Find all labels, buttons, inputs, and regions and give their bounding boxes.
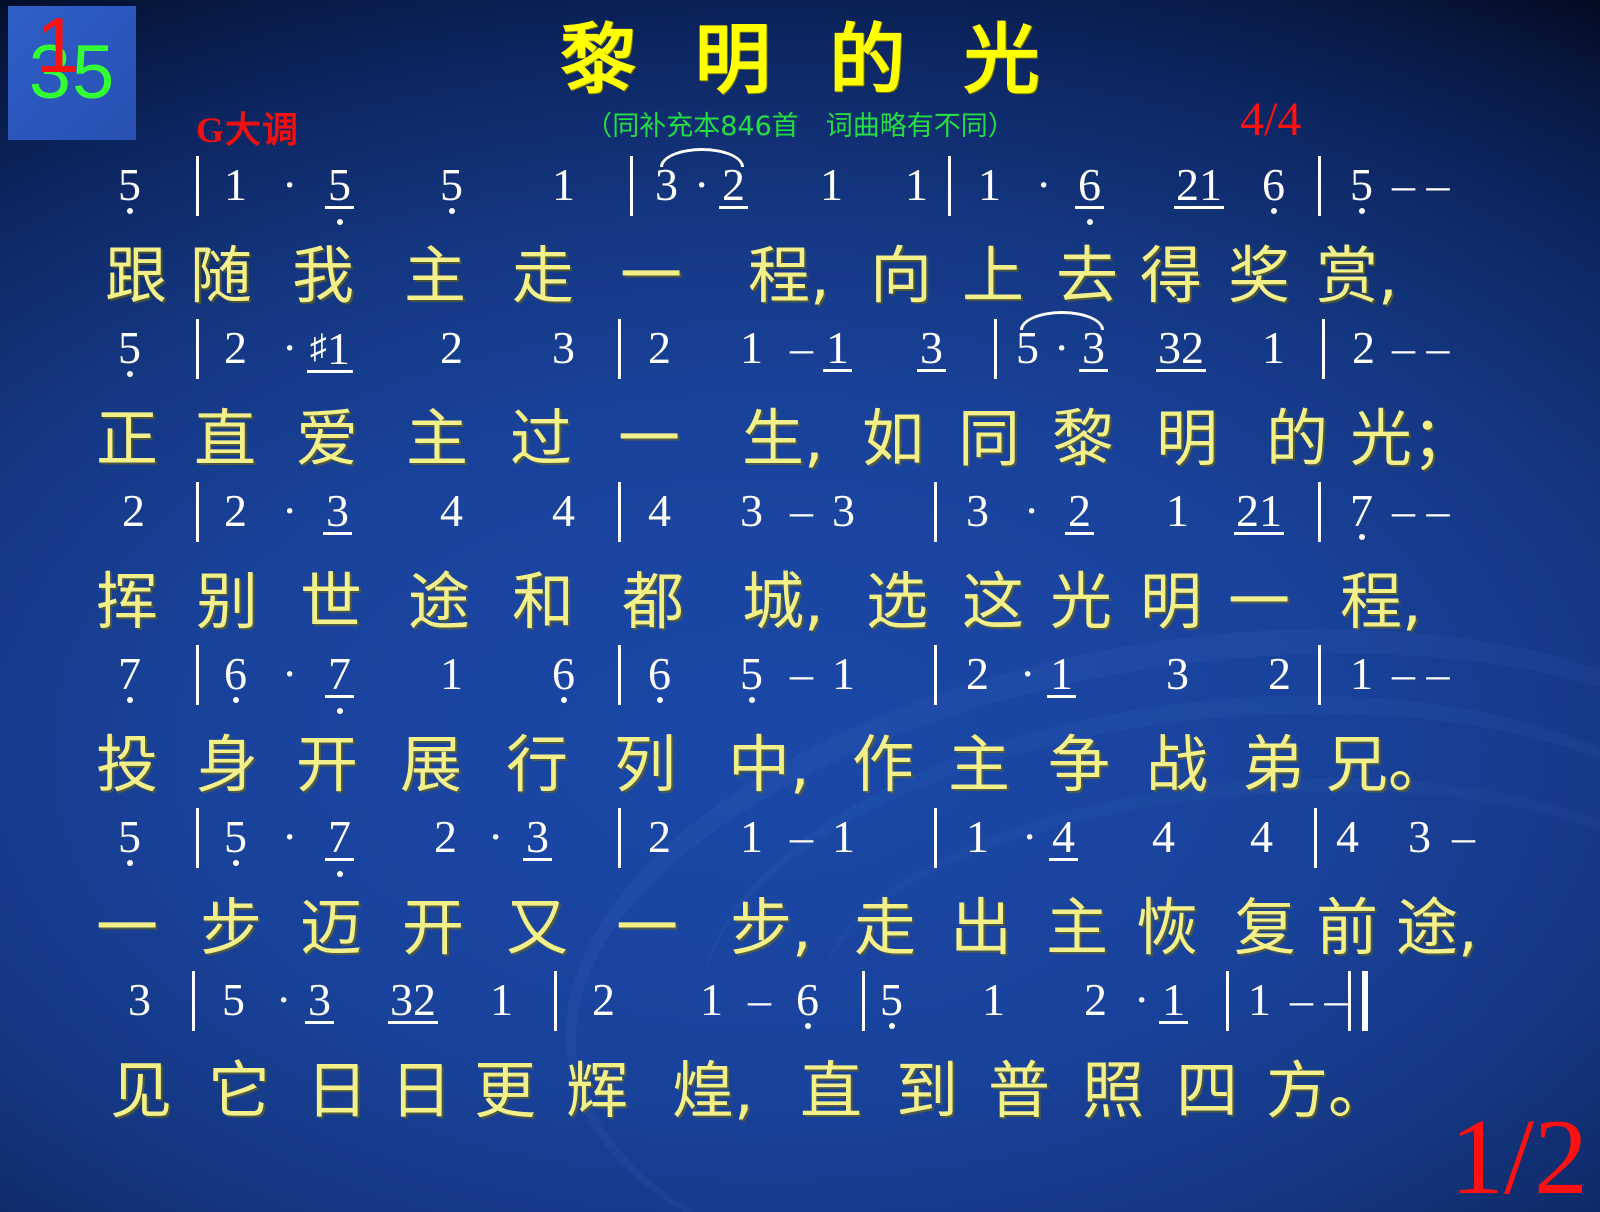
note-token: 7: [1350, 486, 1373, 536]
note-token: 1: [740, 323, 763, 373]
barline: [934, 645, 937, 705]
note-numeral: 3: [326, 486, 349, 536]
note-numeral: 1: [982, 975, 1005, 1025]
note-numeral: 1: [1166, 486, 1189, 536]
note-numeral: 3: [1166, 649, 1189, 699]
lyric-row: 跟随我主走一程,向上去得奖赏,: [0, 234, 1600, 322]
duration-dot: ·: [282, 486, 297, 536]
note-numeral: 2: [966, 649, 989, 699]
note-numeral: 1: [832, 812, 855, 862]
lyric-character: 开: [402, 886, 464, 970]
note-numeral: 6: [1262, 160, 1285, 210]
barline: [862, 971, 865, 1031]
duration-dash: –: [790, 323, 813, 373]
note-token: 3: [326, 486, 349, 536]
note-token: ·: [282, 160, 297, 210]
lyric-character: 普: [988, 1049, 1050, 1133]
barline: [618, 808, 621, 868]
note-numeral: 4: [552, 486, 575, 536]
score-system: 35·332121–6512·11– –见它日日更辉煌,直到普照四方。: [0, 975, 1600, 1138]
note-token: 1: [978, 160, 1001, 210]
barline: [994, 319, 997, 379]
note-token: 3: [832, 486, 855, 536]
duration-dot: ·: [276, 975, 291, 1025]
note-token: ·: [1054, 323, 1069, 373]
note-numeral: 4: [1052, 812, 1075, 862]
note-token: 3: [740, 486, 763, 536]
duration-dash: – –: [1392, 486, 1450, 536]
duration-dash: –: [1452, 812, 1475, 862]
note-token: 4: [1052, 812, 1075, 862]
notation-row: 51·5513·2111·62165– –: [0, 160, 1600, 234]
note-token: ·: [1134, 975, 1149, 1025]
duration-dash: –: [748, 975, 771, 1025]
note-token: 1: [905, 160, 928, 210]
lyric-character: 上: [962, 234, 1024, 318]
lyric-character: 行: [506, 723, 568, 807]
note-token: 1: [440, 649, 463, 699]
beamed-note-pair: 32: [390, 975, 436, 1025]
note-token: 5: [440, 160, 463, 210]
barline: [934, 482, 937, 542]
note-token: 1: [832, 812, 855, 862]
lyric-character: 途: [408, 560, 470, 644]
note-token: 5: [880, 975, 903, 1025]
note-token: 2: [648, 323, 671, 373]
duration-dot: ·: [1024, 486, 1039, 536]
note-token: ·: [282, 323, 297, 373]
lyric-character: 恢: [1136, 886, 1198, 970]
note-token: 7: [328, 812, 351, 862]
lyric-character: 到: [896, 1049, 958, 1133]
lyric-character: 中,: [728, 723, 810, 807]
note-numeral: 5: [224, 812, 247, 862]
note-token: 5: [118, 812, 141, 862]
note-numeral: 2: [434, 812, 457, 862]
note-numeral: 1: [1162, 975, 1185, 1025]
note-token: 5: [740, 649, 763, 699]
note-token: 1: [1050, 649, 1073, 699]
duration-dot: ·: [1054, 323, 1069, 373]
note-token: 2: [122, 486, 145, 536]
lyric-character: 光；: [1350, 397, 1474, 481]
duration-dot: ·: [282, 160, 297, 210]
note-numeral: 5: [118, 812, 141, 862]
lyric-character: 一: [618, 397, 680, 481]
duration-dot: ·: [282, 812, 297, 862]
note-numeral: 5: [880, 975, 903, 1025]
note-numeral: 4: [1336, 812, 1359, 862]
slur-arc: [660, 148, 744, 167]
lyric-character: 明: [1156, 397, 1218, 481]
lyric-character: 战: [1146, 723, 1208, 807]
note-numeral: 7: [118, 649, 141, 699]
notation-row: 52·♯12321–135·33212– –: [0, 323, 1600, 397]
beamed-note-pair: 32: [1158, 323, 1204, 373]
note-numeral: 2: [224, 486, 247, 536]
duration-dot: ·: [1036, 160, 1051, 210]
lyric-character: 程,: [748, 234, 830, 318]
barline: [196, 156, 199, 216]
lyric-character: 主: [404, 234, 466, 318]
note-token: 5: [224, 812, 247, 862]
note-numeral: 6: [224, 649, 247, 699]
lyric-character: 照: [1082, 1049, 1144, 1133]
lyric-character: 城,: [742, 560, 824, 644]
note-token: 3: [1166, 649, 1189, 699]
note-numeral: 1: [1262, 323, 1285, 373]
duration-dash: – –: [1290, 975, 1348, 1025]
note-numeral: 1: [1248, 975, 1271, 1025]
barline: [948, 156, 951, 216]
note-numeral: 1: [700, 975, 723, 1025]
note-token: ♯1: [310, 323, 350, 374]
barline: [1318, 156, 1321, 216]
duration-dot: ·: [282, 649, 297, 699]
lyric-character: 方。: [1266, 1049, 1390, 1133]
barline: [196, 808, 199, 868]
duration-dot: ·: [1022, 812, 1037, 862]
note-numeral: 2: [648, 812, 671, 862]
lyric-character: 主: [1046, 886, 1108, 970]
note-numeral: 7: [328, 649, 351, 699]
note-numeral: 6: [648, 649, 671, 699]
lyric-character: 它: [208, 1049, 270, 1133]
note-token: 6: [1078, 160, 1101, 210]
lyric-character: 一: [616, 886, 678, 970]
note-numeral: 2: [224, 323, 247, 373]
note-token: 21: [1236, 486, 1282, 536]
note-token: –: [790, 486, 813, 536]
note-token: 3: [920, 323, 943, 373]
note-token: 6: [224, 649, 247, 699]
lyric-row: 见它日日更辉煌,直到普照四方。: [0, 1049, 1600, 1137]
lyric-row: 挥别世途和都城,选这光明一程,: [0, 560, 1600, 648]
note-token: 1: [1162, 975, 1185, 1025]
notation-row: 76·71665–12·1321– –: [0, 649, 1600, 723]
note-token: 3: [526, 812, 549, 862]
note-token: 3: [1408, 812, 1431, 862]
note-token: – –: [1290, 975, 1348, 1025]
duration-dot: ·: [1134, 975, 1149, 1025]
note-token: ·: [282, 486, 297, 536]
duration-dot: ·: [1020, 649, 1035, 699]
note-numeral: 3: [655, 160, 678, 210]
duration-dot: ·: [488, 812, 503, 862]
notation-row: 55·72·321–11·44443–: [0, 812, 1600, 886]
note-token: 7: [118, 649, 141, 699]
lyric-character: 得: [1140, 234, 1202, 318]
lyric-character: 奖: [1228, 234, 1290, 318]
barline: [618, 319, 621, 379]
lyric-character: 途,: [1396, 886, 1478, 970]
lyric-character: 跟: [105, 234, 167, 318]
note-token: ·: [694, 160, 709, 210]
note-numeral: 2: [1268, 649, 1291, 699]
lyric-character: 步: [200, 886, 262, 970]
lyric-character: 爱: [296, 397, 358, 481]
note-numeral: 1: [832, 649, 855, 699]
time-signature: 4/4: [1240, 92, 1301, 147]
final-barline: [1348, 971, 1368, 1031]
note-token: 2: [966, 649, 989, 699]
lyric-character: 世: [300, 560, 362, 644]
hymn-slide: 35 G大调 黎 明 的 光 （同补充本846首 词曲略有不同） 4/4 51·…: [0, 0, 1600, 1212]
lyric-character: 去: [1056, 234, 1118, 318]
score-system: 55·72·321–11·44443–一步迈开又一步,走出主恢复前途,: [0, 812, 1600, 975]
note-numeral: 5: [740, 649, 763, 699]
note-token: 6: [552, 649, 575, 699]
note-token: 1: [1350, 649, 1373, 699]
note-numeral: 2: [440, 323, 463, 373]
note-token: 6: [1262, 160, 1285, 210]
note-token: –: [790, 812, 813, 862]
barline: [618, 482, 621, 542]
note-numeral: 1: [1350, 649, 1373, 699]
notation-row: 22·34443–33·21217– –: [0, 486, 1600, 560]
lyric-character: 别: [196, 560, 258, 644]
note-token: –: [790, 649, 813, 699]
score-system: 76·71665–12·1321– –投身开展行列中,作主争战弟兄。: [0, 649, 1600, 812]
lyric-character: 展: [400, 723, 462, 807]
lyric-character: 选: [866, 560, 928, 644]
note-token: 1: [966, 812, 989, 862]
note-numeral: ♯1: [310, 323, 350, 374]
note-token: – –: [1392, 649, 1450, 699]
note-numeral: 1: [740, 323, 763, 373]
note-numeral: 3: [920, 323, 943, 373]
duration-dash: – –: [1392, 160, 1450, 210]
note-token: 3: [1082, 323, 1105, 373]
score-system: 51·5513·2111·62165– –跟随我主走一程,向上去得奖赏,: [0, 160, 1600, 323]
lyric-character: 过: [510, 397, 572, 481]
lyric-character: 争: [1048, 723, 1110, 807]
note-token: 32: [390, 975, 436, 1025]
note-token: 4: [1250, 812, 1273, 862]
lyric-character: 直: [194, 397, 256, 481]
note-numeral: 4: [1152, 812, 1175, 862]
note-numeral: 3: [552, 323, 575, 373]
lyric-character: 煌,: [672, 1049, 754, 1133]
lyric-character: 出: [950, 886, 1012, 970]
lyric-character: 开: [296, 723, 358, 807]
lyric-character: 弟: [1242, 723, 1304, 807]
barline: [1314, 808, 1317, 868]
lyric-character: 同: [958, 397, 1020, 481]
lyric-character: 一: [620, 234, 682, 318]
note-numeral: 2: [1352, 323, 1375, 373]
note-numeral: 4: [440, 486, 463, 536]
lyric-character: 生,: [742, 397, 824, 481]
barline: [1322, 319, 1325, 379]
note-token: 1: [832, 649, 855, 699]
lyric-row: 投身开展行列中,作主争战弟兄。: [0, 723, 1600, 811]
note-token: 2: [224, 486, 247, 536]
score-system: 22·34443–33·21217– –挥别世途和都城,选这光明一程,: [0, 486, 1600, 649]
note-numeral: 1: [820, 160, 843, 210]
note-numeral: 1: [905, 160, 928, 210]
lyric-row: 正直爱主过一生,如同黎明的光；: [0, 397, 1600, 485]
lyric-character: 向: [870, 234, 932, 318]
note-numeral: 1: [490, 975, 513, 1025]
note-token: 5: [118, 160, 141, 210]
note-token: ·: [1036, 160, 1051, 210]
note-token: ·: [282, 812, 297, 862]
score-system: 52·♯12321–135·33212– –正直爱主过一生,如同黎明的光；: [0, 323, 1600, 486]
note-token: 1: [1166, 486, 1189, 536]
duration-dash: – –: [1392, 649, 1450, 699]
lyric-character: 赏,: [1316, 234, 1398, 318]
note-token: 2: [1084, 975, 1107, 1025]
duration-dot: ·: [282, 323, 297, 373]
note-token: 3: [966, 486, 989, 536]
note-numeral: 3: [128, 975, 151, 1025]
lyric-character: 和: [512, 560, 574, 644]
note-token: 6: [648, 649, 671, 699]
note-token: 1: [982, 975, 1005, 1025]
verse-number: 1: [36, 6, 79, 84]
notation-row: 35·332121–6512·11– –: [0, 975, 1600, 1049]
note-token: 5: [222, 975, 245, 1025]
note-token: 1: [224, 160, 247, 210]
note-numeral: 5: [118, 323, 141, 373]
note-numeral: 2: [122, 486, 145, 536]
note-numeral: 2: [1068, 486, 1091, 536]
lyric-character: 步,: [730, 886, 812, 970]
lyric-character: 作: [852, 723, 914, 807]
lyric-character: 程,: [1340, 560, 1422, 644]
lyric-character: 复: [1234, 886, 1296, 970]
lyric-character: 主: [406, 397, 468, 481]
note-token: –: [790, 323, 813, 373]
note-token: – –: [1392, 486, 1450, 536]
note-token: – –: [1392, 160, 1450, 210]
lyric-character: 一: [96, 886, 158, 970]
beamed-note-pair: 21: [1236, 486, 1282, 536]
note-numeral: 2: [722, 160, 745, 210]
note-token: 4: [648, 486, 671, 536]
note-numeral: 6: [552, 649, 575, 699]
lyric-character: 兄。: [1326, 723, 1450, 807]
note-token: 2: [1352, 323, 1375, 373]
note-token: 5: [1016, 323, 1039, 373]
lyric-row: 一步迈开又一步,走出主恢复前途,: [0, 886, 1600, 974]
barline: [192, 971, 195, 1031]
note-token: 2: [1068, 486, 1091, 536]
lyric-character: 更: [474, 1049, 536, 1133]
note-numeral: 3: [1408, 812, 1431, 862]
duration-dash: – –: [1392, 323, 1450, 373]
lyric-character: 随: [190, 234, 252, 318]
page-indicator: 1/2: [1450, 1104, 1588, 1212]
note-token: 21: [1176, 160, 1222, 210]
lyric-character: 如: [862, 397, 924, 481]
note-numeral: 3: [1082, 323, 1105, 373]
note-numeral: 4: [648, 486, 671, 536]
note-numeral: 3: [740, 486, 763, 536]
lyric-character: 正: [96, 397, 158, 481]
note-token: 2: [440, 323, 463, 373]
lyric-character: 的: [1266, 397, 1328, 481]
note-numeral: 1: [740, 812, 763, 862]
lyric-character: 走: [854, 886, 916, 970]
lyric-character: 身: [196, 723, 258, 807]
note-token: 5: [1350, 160, 1373, 210]
lyric-character: 都: [622, 560, 684, 644]
note-token: 2: [648, 812, 671, 862]
note-numeral: 5: [440, 160, 463, 210]
barline: [554, 971, 557, 1031]
note-token: 1: [552, 160, 575, 210]
note-token: 3: [308, 975, 331, 1025]
note-token: 1: [1248, 975, 1271, 1025]
note-token: ·: [276, 975, 291, 1025]
note-numeral: 3: [308, 975, 331, 1025]
note-token: 4: [1336, 812, 1359, 862]
duration-dot: ·: [694, 160, 709, 210]
barline: [630, 156, 633, 216]
page-subtitle: （同补充本846首 词曲略有不同）: [0, 113, 1600, 140]
note-numeral: 6: [1078, 160, 1101, 210]
lyric-character: 日: [390, 1049, 452, 1133]
barline: [1318, 645, 1321, 705]
lyric-character: 挥: [96, 560, 158, 644]
note-token: 2: [224, 323, 247, 373]
note-token: 1: [820, 160, 843, 210]
note-numeral: 5: [328, 160, 351, 210]
note-token: –: [748, 975, 771, 1025]
lyric-character: 投: [96, 723, 158, 807]
barline: [1226, 971, 1229, 1031]
lyric-character: 我: [292, 234, 354, 318]
note-numeral: 2: [648, 323, 671, 373]
sharp-accidental-icon: ♯: [310, 323, 327, 373]
barline: [934, 808, 937, 868]
note-numeral: 3: [526, 812, 549, 862]
note-numeral: 1: [552, 160, 575, 210]
note-numeral: 1: [440, 649, 463, 699]
note-token: 2: [722, 160, 745, 210]
note-numeral: 3: [966, 486, 989, 536]
note-numeral: 5: [1350, 160, 1373, 210]
note-numeral: 4: [1250, 812, 1273, 862]
note-token: 1: [700, 975, 723, 1025]
lyric-character: 列: [614, 723, 676, 807]
note-token: 7: [328, 649, 351, 699]
lyric-character: 前: [1316, 886, 1378, 970]
note-token: 5: [328, 160, 351, 210]
note-token: 5: [118, 323, 141, 373]
note-numeral: 5: [222, 975, 245, 1025]
note-token: 3: [655, 160, 678, 210]
note-numeral: 5: [118, 160, 141, 210]
lyric-character: 又: [506, 886, 568, 970]
page-title: 黎 明 的 光: [0, 22, 1600, 98]
note-token: 32: [1158, 323, 1204, 373]
note-token: 1: [1262, 323, 1285, 373]
duration-dash: –: [790, 812, 813, 862]
note-token: 3: [128, 975, 151, 1025]
barline: [1318, 482, 1321, 542]
duration-dash: –: [790, 649, 813, 699]
note-token: 2: [1268, 649, 1291, 699]
lyric-character: 迈: [300, 886, 362, 970]
note-token: 2: [592, 975, 615, 1025]
note-token: 1: [826, 323, 849, 373]
note-numeral: 1: [966, 812, 989, 862]
lyric-character: 日: [306, 1049, 368, 1133]
note-numeral: 1: [826, 323, 849, 373]
